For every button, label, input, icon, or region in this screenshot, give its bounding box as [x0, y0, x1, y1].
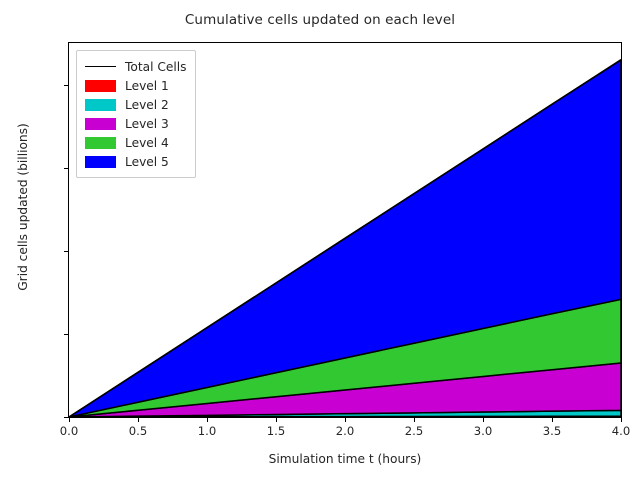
x-tick-label: 0.0 [39, 424, 99, 438]
legend-item-label: Level 2 [125, 98, 169, 112]
legend-color-swatch [85, 99, 116, 111]
y-axis-label: Grid cells updated (billions) [16, 52, 30, 362]
x-tick-mark [621, 418, 622, 422]
legend-item-label: Level 5 [125, 155, 169, 169]
x-tick-mark [138, 418, 139, 422]
x-tick-label: 4.0 [591, 424, 640, 438]
legend-item-label: Level 1 [125, 79, 169, 93]
x-tick-mark [414, 418, 415, 422]
x-tick-mark [207, 418, 208, 422]
x-tick-label: 1.5 [246, 424, 306, 438]
legend-item-label: Total Cells [125, 60, 186, 74]
x-axis-label: Simulation time t (hours) [68, 452, 622, 466]
chart-title: Cumulative cells updated on each level [0, 12, 640, 28]
legend-item[interactable]: Level 5 [85, 152, 186, 171]
legend-item[interactable]: Total Cells [85, 57, 186, 76]
legend-color-swatch [85, 156, 116, 168]
legend-item[interactable]: Level 4 [85, 133, 186, 152]
x-tick-label: 2.0 [315, 424, 375, 438]
chart-legend: Total CellsLevel 1Level 2Level 3Level 4L… [76, 50, 196, 178]
x-tick-label: 1.0 [177, 424, 237, 438]
x-tick-mark [69, 418, 70, 422]
legend-item-label: Level 3 [125, 117, 169, 131]
x-tick-mark [276, 418, 277, 422]
x-tick-label: 3.5 [522, 424, 582, 438]
x-tick-label: 3.0 [453, 424, 513, 438]
legend-line-stroke [85, 66, 116, 67]
legend-line-icon [85, 61, 116, 73]
legend-color-swatch [85, 137, 116, 149]
x-tick-label: 0.5 [108, 424, 168, 438]
x-tick-mark [345, 418, 346, 422]
legend-color-swatch [85, 118, 116, 130]
x-tick-label: 2.5 [384, 424, 444, 438]
legend-item-label: Level 4 [125, 136, 169, 150]
legend-item[interactable]: Level 1 [85, 76, 186, 95]
chart-figure: Cumulative cells updated on each level G… [0, 0, 640, 480]
x-tick-mark [483, 418, 484, 422]
legend-item[interactable]: Level 2 [85, 95, 186, 114]
x-tick-mark [552, 418, 553, 422]
legend-item[interactable]: Level 3 [85, 114, 186, 133]
legend-color-swatch [85, 80, 116, 92]
